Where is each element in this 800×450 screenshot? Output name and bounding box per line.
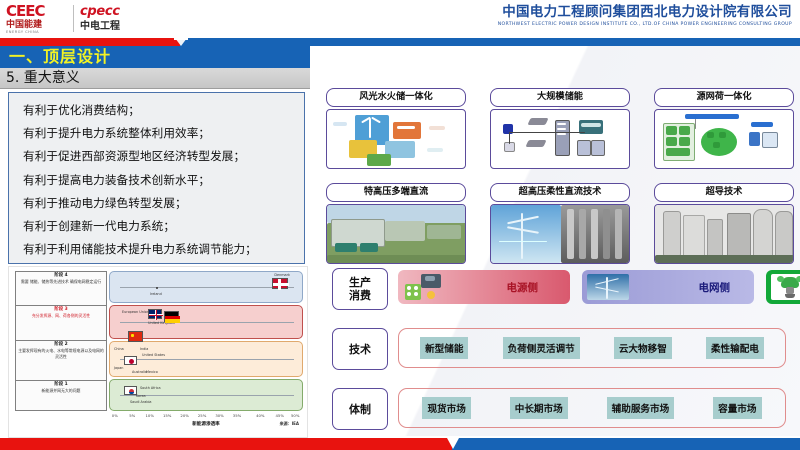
power-plant-icon	[403, 274, 445, 300]
chart-stage-1: 阶段 1 新能源并网无大的问题	[15, 381, 107, 411]
row-label-line2: 消费	[349, 289, 371, 302]
chart-label-saudi-arabia: Saudi Arabia	[130, 400, 152, 404]
block-load-side[interactable]: 负荷侧	[766, 270, 800, 304]
x-tick: 0%	[112, 413, 118, 418]
chart-stage-2-desc: 主要发挥现有的火电、水电等常规电源以及电网的灵活性	[18, 348, 104, 359]
technology-chip-group: 新型储能 负荷侧灵活调节 云大物移智 柔性输配电	[398, 328, 786, 368]
tech-card-4-title: 特高压多端直流	[326, 183, 466, 202]
chart-label-ireland: Ireland	[150, 292, 162, 296]
chip-technology-1[interactable]: 新型储能	[420, 337, 468, 359]
block-label-grid-side: 电网侧	[693, 280, 737, 295]
x-tick: 35%	[233, 413, 241, 418]
chart-stage-3-desc: 充分发挥源、网、荷各侧的灵活性	[18, 313, 104, 319]
system-chip-group: 现货市场 中长期市场 辅助服务市场 容量市场	[398, 388, 786, 428]
chart-band-axis-line	[120, 287, 294, 288]
x-tick: 5%	[129, 413, 135, 418]
chip-technology-4[interactable]: 柔性输配电	[706, 337, 764, 359]
row-technology: 技术 新型储能 负荷侧灵活调节 云大物移智 柔性输配电	[326, 326, 794, 370]
chip-system-4[interactable]: 容量市场	[713, 397, 761, 419]
row-label-line1: 生产	[349, 276, 371, 289]
chart-label-brazil: India	[140, 347, 148, 351]
footer-bar-blue	[452, 438, 800, 450]
chart-band-stage4: Denmark Ireland	[109, 271, 303, 303]
chart-band-axis-line	[120, 359, 294, 360]
footer-bar-notch-icon	[444, 438, 462, 450]
subsection-title-bar: 5. 重大意义	[0, 68, 310, 89]
row-system: 体制 现货市场 中长期市场 辅助服务市场 容量市场	[326, 386, 794, 430]
source-grid-load-diagram-icon	[655, 110, 793, 168]
ceec-logo-cn: 中国能建	[6, 20, 68, 30]
chart-label-australia: Mexico	[146, 370, 158, 374]
chart-label-south-africa: South Africa	[140, 386, 161, 390]
superconductor-equipment-photo-icon	[655, 205, 793, 263]
storage-network-diagram-icon	[491, 110, 629, 168]
company-name-block: 中国电力工程顾问集团西北电力设计院有限公司 NORTHWEST ELECTRIC…	[498, 4, 792, 29]
multi-energy-diagram-icon	[327, 110, 465, 168]
chip-system-2[interactable]: 中长期市场	[510, 397, 568, 419]
tech-card-1-title: 风光水火储一体化	[326, 88, 466, 107]
chart-stage-4: 阶段 4 需要 储能、储热等先进技术 确保电网稳定运行	[15, 271, 107, 306]
x-tick: 25%	[198, 413, 206, 418]
tech-card-4-image	[326, 204, 466, 264]
x-tick: 15%	[163, 413, 171, 418]
chart-stage-4-desc: 需要 储能、储热等先进技术 确保电网稳定运行	[18, 279, 104, 285]
benefits-list-panel: 有利于优化消费结构； 有利于提升电力系统整体利用效率； 有利于促进西部资源型地区…	[8, 92, 305, 264]
logo-divider	[73, 5, 74, 32]
tech-card-3[interactable]: 源网荷一体化	[654, 88, 794, 169]
section-title-bar: 一、顶层设计	[0, 46, 310, 68]
company-name-en: NORTHWEST ELECTRIC POWER DESIGN INSTITUT…	[498, 21, 792, 29]
x-tick: 50%	[291, 413, 299, 418]
chart-label-japan-china: China	[114, 347, 124, 351]
list-item: 有利于提升电力系统整体利用效率；	[23, 122, 304, 145]
tech-card-5[interactable]: 超高压柔性直流技术	[490, 183, 630, 264]
chart-label-united-states: United States	[142, 353, 165, 357]
transmission-tower-photo-icon	[491, 205, 629, 263]
section-title-text: 一、顶层设计	[0, 46, 310, 68]
cpecc-logo-cn: 中电工程	[80, 21, 120, 33]
chip-system-1[interactable]: 现货市场	[422, 397, 470, 419]
tech-card-5-image	[490, 204, 630, 264]
flag-china-icon	[128, 331, 143, 342]
flag-japan-icon	[124, 356, 137, 365]
tech-card-4[interactable]: 特高压多端直流	[326, 183, 466, 264]
framework-rows: 生产 消费 电源侧	[326, 266, 794, 438]
flag-denmark-icon	[272, 278, 288, 289]
tech-card-3-image	[654, 109, 794, 169]
flag-germany-icon	[164, 311, 179, 322]
company-name-cn: 中国电力工程顾问集团西北电力设计院有限公司	[498, 4, 792, 20]
flag-uk-icon	[148, 309, 162, 319]
chart-label-canada: Japan	[114, 366, 123, 370]
row-label-technology: 技术	[332, 328, 388, 370]
chart-label-india: Australia	[132, 370, 147, 374]
chart-stage-2: 阶段 2 主要发挥现有的火电、水电等常规电源以及电网的灵活性	[15, 341, 107, 381]
ceec-logo-en: ENERGY CHINA	[6, 30, 68, 35]
list-item: 有利于利用储能技术提升电力系统调节能力；	[23, 238, 304, 261]
tech-card-6-title: 超导技术	[654, 183, 794, 202]
chart-stage-3: 阶段 3 充分发挥源、网、荷各侧的灵活性	[15, 306, 107, 341]
chart-label-korea: Korea	[136, 394, 146, 398]
list-item: 有利于创建新一代电力系统；	[23, 215, 304, 238]
block-grid-side[interactable]: 电网侧	[582, 270, 754, 304]
row-label-system: 体制	[332, 388, 388, 430]
tech-card-3-title: 源网荷一体化	[654, 88, 794, 107]
header-bar-blue	[180, 38, 800, 46]
row-label-line1: 技术	[349, 343, 371, 356]
chart-label-european-union: European Union	[122, 310, 149, 314]
ceec-logo: CEEC 中国能建 ENERGY CHINA	[6, 4, 68, 34]
list-item: 有利于提高电力装备技术创新水平；	[23, 169, 304, 192]
block-power-source-side[interactable]: 电源侧	[398, 270, 570, 304]
tech-card-1-image	[326, 109, 466, 169]
tech-card-2-image	[490, 109, 630, 169]
chart-x-axis-label: 新能源渗透率	[109, 421, 303, 427]
chart-band-stage1: South Africa Korea Saudi Arabia	[109, 379, 303, 411]
x-tick: 45%	[275, 413, 283, 418]
list-item: 有利于促进西部资源型地区经济转型发展；	[23, 145, 304, 168]
cpecc-logo: cpecc 中电工程	[80, 5, 120, 33]
chart-stage-1-desc: 新能源并网无大的问题	[18, 388, 104, 394]
benefits-list: 有利于优化消费结构； 有利于提升电力系统整体利用效率； 有利于促进西部资源型地区…	[23, 99, 304, 261]
footer-bar-red	[0, 438, 452, 450]
tech-card-5-title: 超高压柔性直流技术	[490, 183, 630, 202]
chart-point-ireland	[156, 287, 158, 289]
ceec-logo-mark: CEEC	[6, 4, 68, 19]
technology-card-grid: 风光水火储一体化 大规模储能	[326, 88, 794, 260]
list-item: 有利于优化消费结构；	[23, 99, 304, 122]
row-production-consumption: 生产 消费 电源侧	[326, 266, 794, 310]
tech-card-6-image	[654, 204, 794, 264]
led-bulb-icon	[771, 274, 800, 300]
tech-card-6[interactable]: 超导技术	[654, 183, 794, 264]
transmission-tower-icon	[587, 274, 629, 300]
row-label-production-consumption: 生产 消费	[332, 268, 388, 310]
chart-source-label: 来源：IEA	[280, 421, 299, 427]
chart-band-stage2: China Japan India United States Australi…	[109, 341, 303, 377]
chip-system-3[interactable]: 辅助服务市场	[607, 397, 675, 419]
chart-band-axis-line	[120, 322, 294, 323]
tech-card-2[interactable]: 大规模储能	[490, 88, 630, 169]
slide-root: CEEC 中国能建 ENERGY CHINA cpecc 中电工程 中国电力工程…	[0, 0, 800, 450]
x-tick: 10%	[146, 413, 154, 418]
chart-band-axis-line	[120, 395, 294, 396]
cpecc-logo-mark: cpecc	[80, 5, 120, 19]
chart-label-denmark: Denmark	[274, 273, 290, 277]
tech-card-1[interactable]: 风光水火储一体化	[326, 88, 466, 169]
x-tick: 30%	[215, 413, 223, 418]
converter-station-photo-icon	[327, 205, 465, 263]
chart-plot-area: Denmark Ireland European Union United Ki…	[109, 271, 303, 411]
chip-technology-3[interactable]: 云大物移智	[614, 337, 672, 359]
block-label-power-source-side: 电源侧	[501, 280, 545, 295]
header-bar-red	[0, 38, 180, 46]
row-label-line1: 体制	[349, 403, 371, 416]
subsection-title-text: 5. 重大意义	[0, 68, 310, 88]
x-tick: 40%	[256, 413, 264, 418]
logo-zone: CEEC 中国能建 ENERGY CHINA cpecc 中电工程	[0, 0, 180, 38]
list-item: 有利于推动电力绿色转型发展；	[23, 192, 304, 215]
tech-card-2-title: 大规模储能	[490, 88, 630, 107]
chip-technology-2[interactable]: 负荷侧灵活调节	[503, 337, 580, 359]
chart-stage-column: 阶段 4 需要 储能、储热等先进技术 确保电网稳定运行 阶段 3 充分发挥源、网…	[15, 271, 107, 411]
renewable-penetration-chart: 阶段 4 需要 储能、储热等先进技术 确保电网稳定运行 阶段 3 充分发挥源、网…	[8, 266, 308, 438]
x-tick: 20%	[180, 413, 188, 418]
